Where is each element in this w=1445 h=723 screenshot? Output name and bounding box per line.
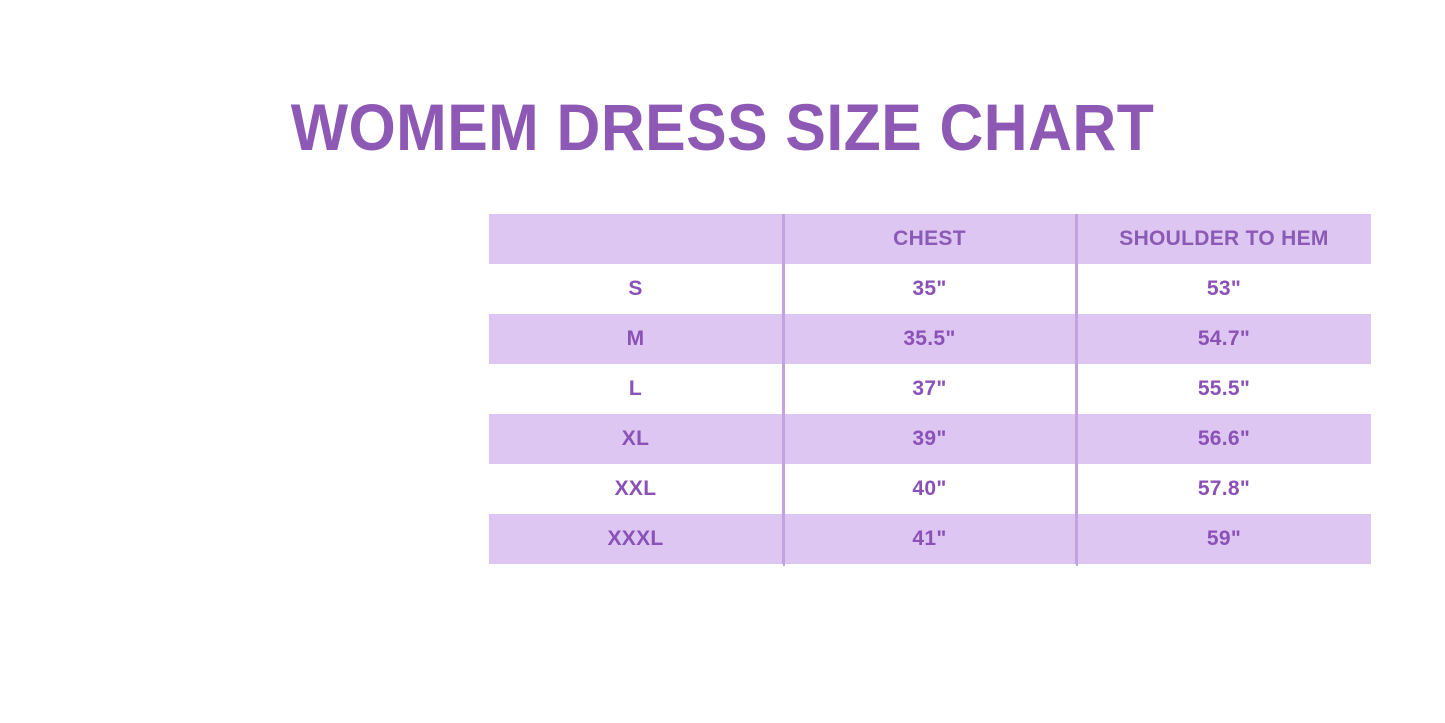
- table-row: S 35" 53": [489, 264, 1371, 314]
- cell-shoulder-to-hem: 55.5": [1076, 364, 1371, 414]
- cell-size: L: [489, 364, 783, 414]
- cell-chest: 37": [783, 364, 1076, 414]
- page-title: WOMEM DRESS SIZE CHART: [58, 94, 1387, 160]
- cell-chest: 40": [783, 464, 1076, 514]
- table-header-row: CHEST SHOULDER TO HEM: [489, 214, 1371, 264]
- cell-chest: 35.5": [783, 314, 1076, 364]
- table-row: M 35.5" 54.7": [489, 314, 1371, 364]
- table-row: XL 39" 56.6": [489, 414, 1371, 464]
- table-header: CHEST SHOULDER TO HEM: [489, 214, 1371, 264]
- table-row: L 37" 55.5": [489, 364, 1371, 414]
- cell-chest: 39": [783, 414, 1076, 464]
- cell-shoulder-to-hem: 59": [1076, 514, 1371, 564]
- table-row: XXL 40" 57.8": [489, 464, 1371, 514]
- size-chart-page: WOMEM DRESS SIZE CHART CHEST SHOULDER TO…: [0, 0, 1445, 723]
- cell-shoulder-to-hem: 53": [1076, 264, 1371, 314]
- cell-chest: 35": [783, 264, 1076, 314]
- cell-size: M: [489, 314, 783, 364]
- size-chart-table-container: CHEST SHOULDER TO HEM S 35" 53" M 35.5" …: [489, 214, 1371, 566]
- table-row: XXXL 41" 59": [489, 514, 1371, 564]
- cell-shoulder-to-hem: 57.8": [1076, 464, 1371, 514]
- cell-size: S: [489, 264, 783, 314]
- cell-size: XXXL: [489, 514, 783, 564]
- cell-shoulder-to-hem: 54.7": [1076, 314, 1371, 364]
- table-body: S 35" 53" M 35.5" 54.7" L 37" 55.5" XL 3…: [489, 264, 1371, 564]
- column-header-size: [489, 214, 783, 264]
- size-chart-table: CHEST SHOULDER TO HEM S 35" 53" M 35.5" …: [489, 214, 1371, 564]
- cell-shoulder-to-hem: 56.6": [1076, 414, 1371, 464]
- column-header-chest: CHEST: [783, 214, 1076, 264]
- column-header-shoulder-to-hem: SHOULDER TO HEM: [1076, 214, 1371, 264]
- cell-chest: 41": [783, 514, 1076, 564]
- cell-size: XL: [489, 414, 783, 464]
- cell-size: XXL: [489, 464, 783, 514]
